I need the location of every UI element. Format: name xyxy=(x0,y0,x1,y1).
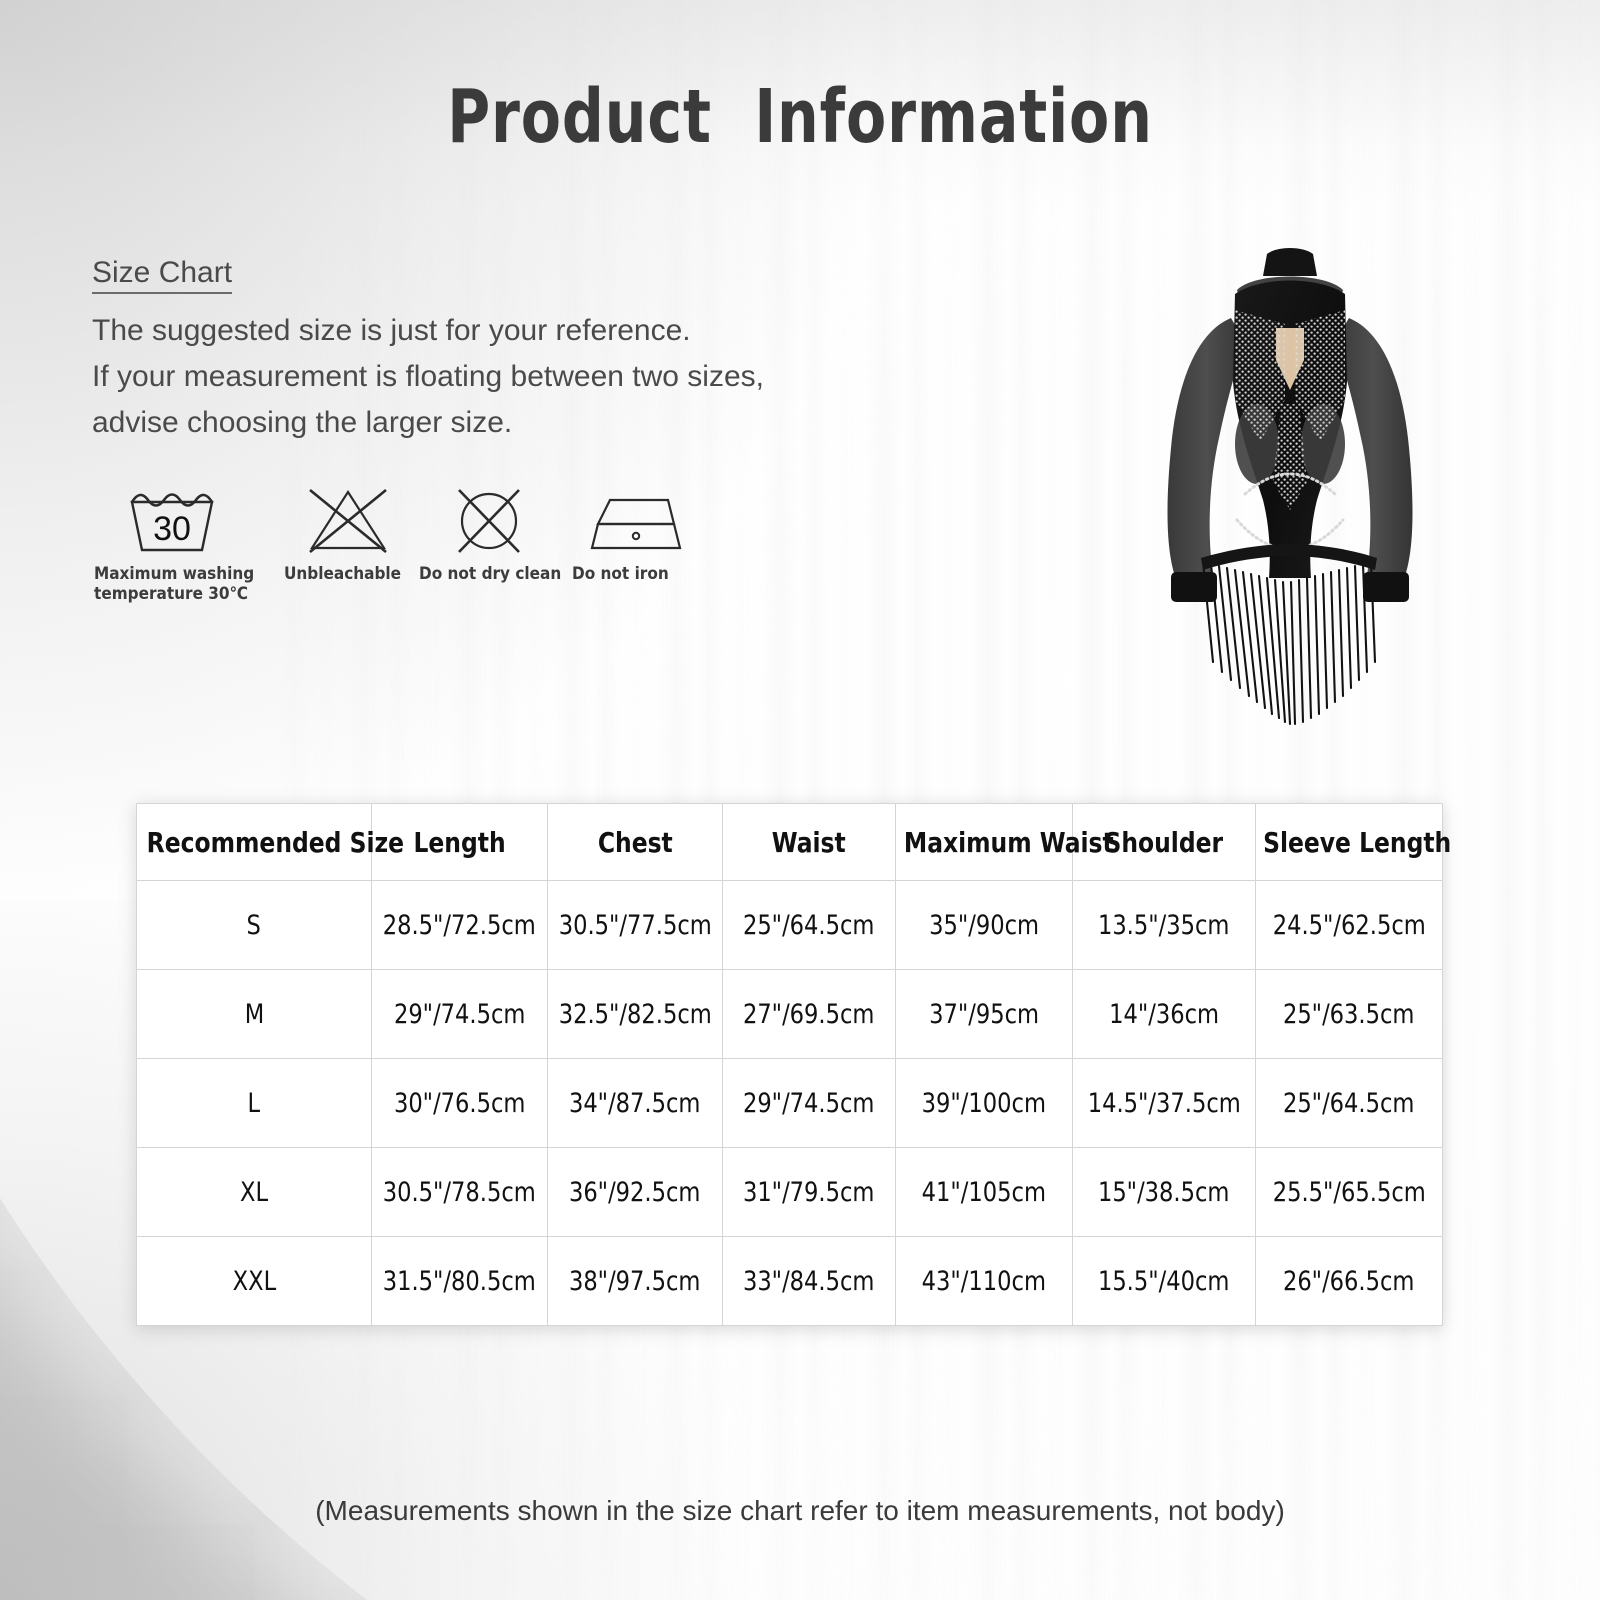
table-cell-waist: 27"/69.5cm xyxy=(723,970,896,1059)
table-cell-length: 28.5"/72.5cm xyxy=(372,881,548,970)
table-cell-waist: 29"/74.5cm xyxy=(723,1059,896,1148)
table-header-cell: Waist xyxy=(723,804,896,881)
table-row: XXL 31.5"/80.5cm 38"/97.5cm 33"/84.5cm 4… xyxy=(137,1237,1443,1326)
cell-text: 14"/36cm xyxy=(1109,999,1219,1030)
svg-text:30: 30 xyxy=(153,510,191,548)
care-symbol-no-dry-clean: Do not dry clean xyxy=(419,484,564,584)
cell-text: 27"/69.5cm xyxy=(743,999,874,1030)
table-cell-shoulder: 15.5"/40cm xyxy=(1073,1237,1256,1326)
cell-text: 35"/90cm xyxy=(929,910,1039,941)
table-cell-size: XL xyxy=(137,1148,372,1237)
table-cell-chest: 34"/87.5cm xyxy=(548,1059,723,1148)
care-symbol-do-not-iron: Do not iron xyxy=(572,484,702,584)
cell-text: XXL xyxy=(232,1266,276,1297)
table-cell-maximum-waist: 41"/105cm xyxy=(896,1148,1073,1237)
table-cell-chest: 38"/97.5cm xyxy=(548,1237,723,1326)
no-bleach-triangle-icon xyxy=(284,484,414,556)
cell-text: 14.5"/37.5cm xyxy=(1087,1088,1240,1119)
table-header-text: Sleeve Length xyxy=(1263,826,1451,859)
table-cell-length: 30.5"/78.5cm xyxy=(372,1148,548,1237)
care-symbol-label-do-not-iron: Do not iron xyxy=(572,564,702,584)
wash-tub-30-icon: 30 xyxy=(94,484,264,556)
table-cell-length: 30"/76.5cm xyxy=(372,1059,548,1148)
table-header-text: Length xyxy=(413,826,505,859)
table-cell-size: M xyxy=(137,970,372,1059)
table-cell-sleeve-length: 24.5"/62.5cm xyxy=(1256,881,1443,970)
cell-text: XL xyxy=(240,1177,268,1208)
cell-text: 28.5"/72.5cm xyxy=(383,910,536,941)
product-photo-svg xyxy=(1085,232,1495,732)
product-photo xyxy=(1085,232,1495,732)
size-chart-info-block: Size Chart The suggested size is just fo… xyxy=(92,256,892,446)
cell-text: 37"/95cm xyxy=(929,999,1039,1030)
table-cell-waist: 31"/79.5cm xyxy=(723,1148,896,1237)
care-symbol-label-unbleachable: Unbleachable xyxy=(284,564,414,584)
table-cell-maximum-waist: 35"/90cm xyxy=(896,881,1073,970)
table-header-cell: Maximum Waist xyxy=(896,804,1073,881)
table-cell-sleeve-length: 25"/63.5cm xyxy=(1256,970,1443,1059)
cell-text: 30"/76.5cm xyxy=(394,1088,525,1119)
table-cell-sleeve-length: 26"/66.5cm xyxy=(1256,1237,1443,1326)
no-bleach-triangle-icon-svg xyxy=(300,484,396,556)
cell-text: 38"/97.5cm xyxy=(569,1266,700,1297)
size-chart-note-line-3: advise choosing the larger size. xyxy=(92,400,892,446)
do-not-iron-icon-svg xyxy=(588,484,684,556)
table-cell-chest: 36"/92.5cm xyxy=(548,1148,723,1237)
table-cell-maximum-waist: 39"/100cm xyxy=(896,1059,1073,1148)
cell-text: 32.5"/82.5cm xyxy=(558,999,711,1030)
care-symbol-unbleachable: Unbleachable xyxy=(284,484,414,584)
size-chart-table: Recommended Size Length Chest Waist Maxi… xyxy=(136,803,1443,1326)
cell-text: 31.5"/80.5cm xyxy=(383,1266,536,1297)
table-header-text: Maximum Waist xyxy=(904,826,1114,859)
table-row: S 28.5"/72.5cm 30.5"/77.5cm 25"/64.5cm 3… xyxy=(137,881,1443,970)
table-cell-size: XXL xyxy=(137,1237,372,1326)
table-cell-chest: 30.5"/77.5cm xyxy=(548,881,723,970)
cell-text: 30.5"/78.5cm xyxy=(383,1177,536,1208)
wash-tub-30-icon-svg: 30 xyxy=(124,484,220,556)
cell-text: 26"/66.5cm xyxy=(1283,1266,1414,1297)
table-cell-sleeve-length: 25.5"/65.5cm xyxy=(1256,1148,1443,1237)
cell-text: 36"/92.5cm xyxy=(569,1177,700,1208)
table-cell-maximum-waist: 37"/95cm xyxy=(896,970,1073,1059)
cell-text: 25"/64.5cm xyxy=(743,910,874,941)
cell-text: 15.5"/40cm xyxy=(1098,1266,1229,1297)
cell-text: 39"/100cm xyxy=(922,1088,1046,1119)
table-header-cell: Recommended Size xyxy=(137,804,372,881)
care-symbols-row: 30 Maximum washing temperature 30℃ Unble… xyxy=(94,484,714,624)
measurement-disclaimer: (Measurements shown in the size chart re… xyxy=(0,1495,1600,1527)
size-chart-note-line-1: The suggested size is just for your refe… xyxy=(92,308,892,354)
table-header-row: Recommended Size Length Chest Waist Maxi… xyxy=(137,804,1443,881)
cell-text: 31"/79.5cm xyxy=(743,1177,874,1208)
table-cell-waist: 33"/84.5cm xyxy=(723,1237,896,1326)
table-cell-shoulder: 13.5"/35cm xyxy=(1073,881,1256,970)
cell-text: 24.5"/62.5cm xyxy=(1272,910,1425,941)
cell-text: 25.5"/65.5cm xyxy=(1272,1177,1425,1208)
table-cell-waist: 25"/64.5cm xyxy=(723,881,896,970)
cell-text: 43"/110cm xyxy=(922,1266,1046,1297)
table-cell-shoulder: 15"/38.5cm xyxy=(1073,1148,1256,1237)
size-chart-table-container: Recommended Size Length Chest Waist Maxi… xyxy=(136,803,1442,1326)
size-chart-heading: Size Chart xyxy=(92,256,232,294)
table-cell-maximum-waist: 43"/110cm xyxy=(896,1237,1073,1326)
cell-text: 25"/64.5cm xyxy=(1283,1088,1414,1119)
table-cell-sleeve-length: 25"/64.5cm xyxy=(1256,1059,1443,1148)
no-dry-clean-circle-icon xyxy=(419,484,564,556)
table-header-text: Shoulder xyxy=(1105,826,1224,859)
table-cell-length: 31.5"/80.5cm xyxy=(372,1237,548,1326)
care-symbol-wash-30: 30 Maximum washing temperature 30℃ xyxy=(94,484,264,604)
no-dry-clean-circle-icon-svg xyxy=(441,484,537,556)
table-cell-shoulder: 14"/36cm xyxy=(1073,970,1256,1059)
do-not-iron-icon xyxy=(572,484,702,556)
table-header-text: Recommended Size xyxy=(147,826,404,859)
cell-text: 41"/105cm xyxy=(922,1177,1046,1208)
table-cell-shoulder: 14.5"/37.5cm xyxy=(1073,1059,1256,1148)
table-row: XL 30.5"/78.5cm 36"/92.5cm 31"/79.5cm 41… xyxy=(137,1148,1443,1237)
table-cell-length: 29"/74.5cm xyxy=(372,970,548,1059)
cell-text: 29"/74.5cm xyxy=(743,1088,874,1119)
care-symbol-label-no-dry-clean: Do not dry clean xyxy=(419,564,564,584)
cell-text: L xyxy=(248,1088,261,1119)
cell-text: 34"/87.5cm xyxy=(569,1088,700,1119)
table-header-text: Waist xyxy=(772,826,846,859)
table-cell-size: L xyxy=(137,1059,372,1148)
cell-text: 25"/63.5cm xyxy=(1283,999,1414,1030)
cell-text: M xyxy=(244,999,264,1030)
cell-text: S xyxy=(247,910,261,941)
page-title: Product Information xyxy=(96,74,1504,160)
size-chart-note-line-2: If your measurement is floating between … xyxy=(92,354,892,400)
table-header-cell: Sleeve Length xyxy=(1256,804,1443,881)
cell-text: 29"/74.5cm xyxy=(394,999,525,1030)
table-row: M 29"/74.5cm 32.5"/82.5cm 27"/69.5cm 37"… xyxy=(137,970,1443,1059)
table-cell-chest: 32.5"/82.5cm xyxy=(548,970,723,1059)
cell-text: 13.5"/35cm xyxy=(1098,910,1229,941)
cell-text: 30.5"/77.5cm xyxy=(558,910,711,941)
table-row: L 30"/76.5cm 34"/87.5cm 29"/74.5cm 39"/1… xyxy=(137,1059,1443,1148)
table-header-cell: Chest xyxy=(548,804,723,881)
cell-text: 33"/84.5cm xyxy=(743,1266,874,1297)
table-header-text: Chest xyxy=(598,826,673,859)
table-cell-size: S xyxy=(137,881,372,970)
cell-text: 15"/38.5cm xyxy=(1098,1177,1229,1208)
care-symbol-label-wash: Maximum washing temperature 30℃ xyxy=(94,564,264,604)
